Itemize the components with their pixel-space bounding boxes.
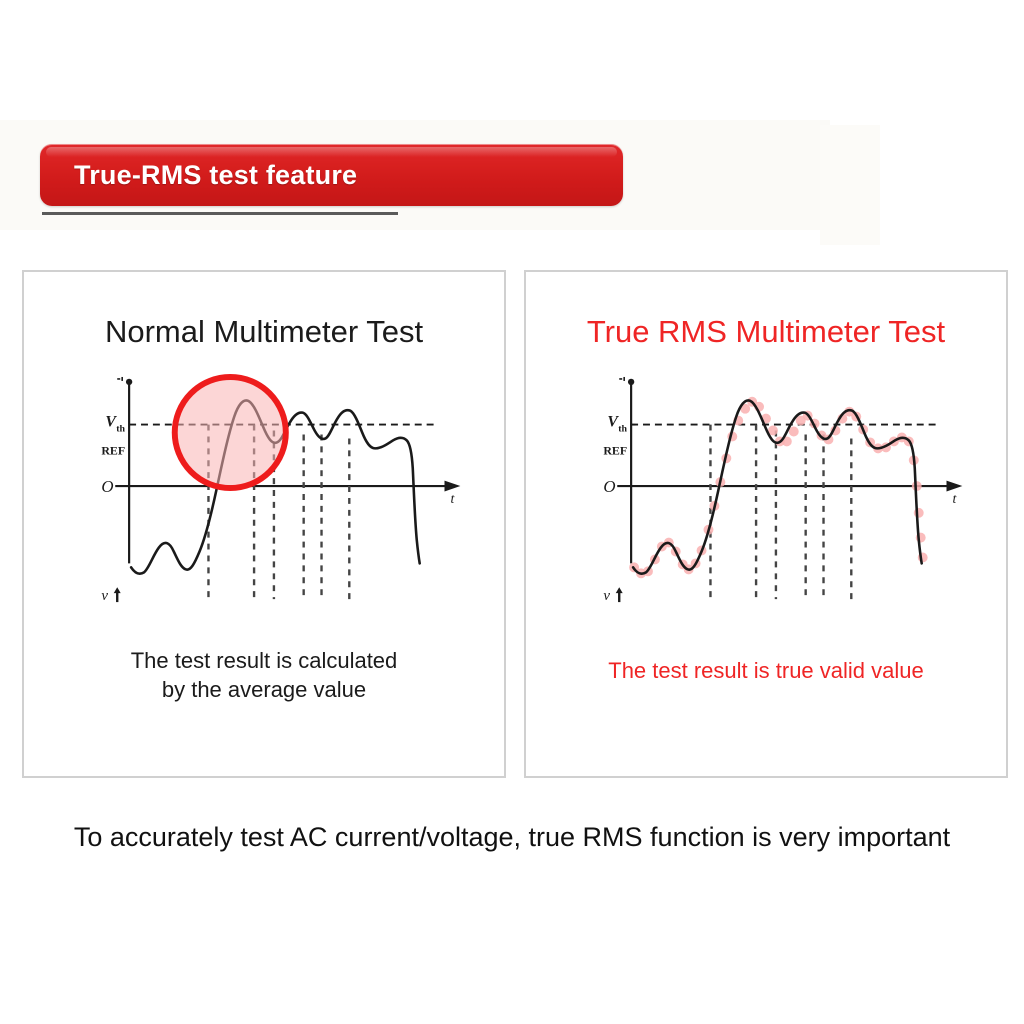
svg-text:t: t (450, 492, 455, 507)
chart-title-normal: Normal Multimeter Test (24, 314, 504, 350)
footer-note: To accurately test AC current/voltage, t… (0, 822, 1024, 853)
header-banner: True-RMS test feature (40, 144, 623, 206)
svg-text:REF: REF (603, 443, 627, 457)
svg-text:t: t (952, 492, 957, 507)
svg-text:O: O (603, 477, 615, 496)
page-root: True-RMS test feature Normal Multimeter … (0, 0, 1024, 1024)
panel-normal-multimeter: Normal Multimeter Test (22, 270, 506, 778)
background-tint-block-right (820, 125, 880, 245)
chart-normal-multimeter: V th REF O t v (24, 368, 504, 618)
svg-text:v: v (101, 588, 108, 604)
caption-true-rms: The test result is true valid value (526, 656, 1006, 685)
caption-normal: The test result is calculated by the ave… (24, 646, 504, 704)
banner-underline-rule (42, 212, 398, 215)
chart-true-rms-multimeter: V th REF O t v (526, 368, 1006, 618)
svg-text:REF: REF (101, 443, 125, 457)
svg-text:th: th (618, 424, 627, 435)
caption-normal-line1: The test result is calculated (24, 646, 504, 675)
caption-normal-line2: by the average value (24, 675, 504, 704)
caption-true-rms-line1: The test result is true valid value (526, 656, 1006, 685)
panel-true-rms-multimeter: True RMS Multimeter Test (524, 270, 1008, 778)
svg-text:th: th (116, 424, 125, 435)
svg-text:v: v (603, 588, 610, 604)
banner-title: True-RMS test feature (74, 144, 357, 206)
chart-title-true-rms: True RMS Multimeter Test (526, 314, 1006, 350)
svg-text:O: O (101, 477, 113, 496)
